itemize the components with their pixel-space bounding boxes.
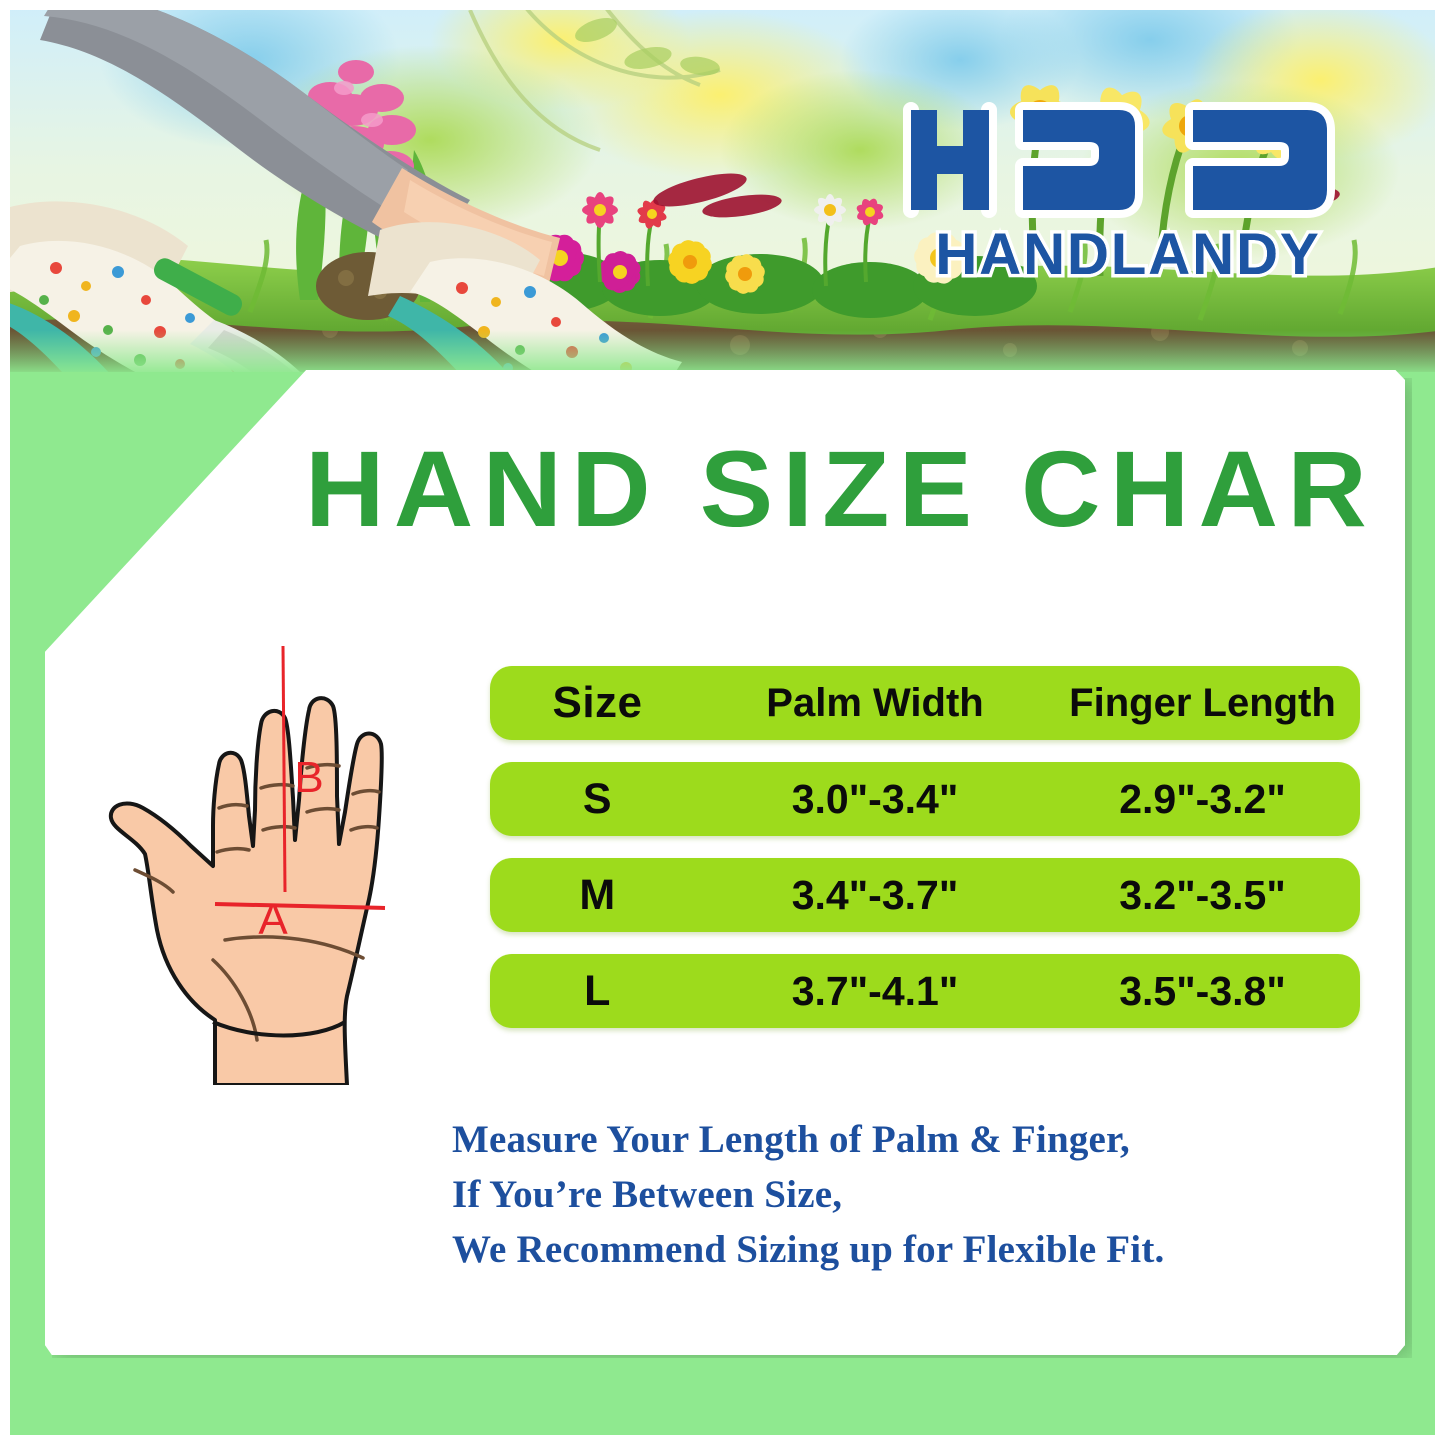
table-header-row: Size Palm Width Finger Length <box>490 666 1360 740</box>
col-header-size: Size <box>490 678 705 728</box>
note-line-3: We Recommend Sizing up for Flexible Fit. <box>452 1222 1352 1277</box>
cell-size: L <box>490 967 705 1016</box>
cell-finger-length: 3.2"-3.5" <box>1045 872 1360 919</box>
note-line-1: Measure Your Length of Palm & Finger, <box>452 1112 1352 1167</box>
page-title: HAND SIZE CHART <box>305 438 1365 546</box>
note-line-2: If You’re Between Size, <box>452 1167 1352 1222</box>
table-row: L 3.7"-4.1" 3.5"-3.8" <box>490 954 1360 1028</box>
table-row: M 3.4"-3.7" 3.2"-3.5" <box>490 858 1360 932</box>
cell-finger-length: 3.5"-3.8" <box>1045 968 1360 1015</box>
cell-palm-width: 3.0"-3.4" <box>705 776 1045 823</box>
size-chart-infographic: HANDLANDY HANDLANDY HAND SIZE CHART <box>0 0 1445 1445</box>
cell-size: S <box>490 775 705 824</box>
cell-palm-width: 3.7"-4.1" <box>705 968 1045 1015</box>
finger-length-line <box>283 646 285 892</box>
brand-logo: HANDLANDY HANDLANDY <box>893 92 1363 287</box>
svg-text:HANDLANDY: HANDLANDY <box>935 222 1320 287</box>
label-a: A <box>258 895 288 944</box>
page-title-text: HAND SIZE CHART <box>305 438 1365 546</box>
col-header-finger-length: Finger Length <box>1045 681 1360 726</box>
cell-palm-width: 3.4"-3.7" <box>705 872 1045 919</box>
cell-size: M <box>490 871 705 920</box>
label-b: B <box>294 753 323 802</box>
measuring-note: Measure Your Length of Palm & Finger, If… <box>452 1112 1352 1277</box>
table-row: S 3.0"-3.4" 2.9"-3.2" <box>490 762 1360 836</box>
cell-finger-length: 2.9"-3.2" <box>1045 776 1360 823</box>
hand-measure-diagram: A B <box>95 640 495 1085</box>
col-header-palm-width: Palm Width <box>705 681 1045 726</box>
size-table: Size Palm Width Finger Length S 3.0"-3.4… <box>490 666 1360 1028</box>
